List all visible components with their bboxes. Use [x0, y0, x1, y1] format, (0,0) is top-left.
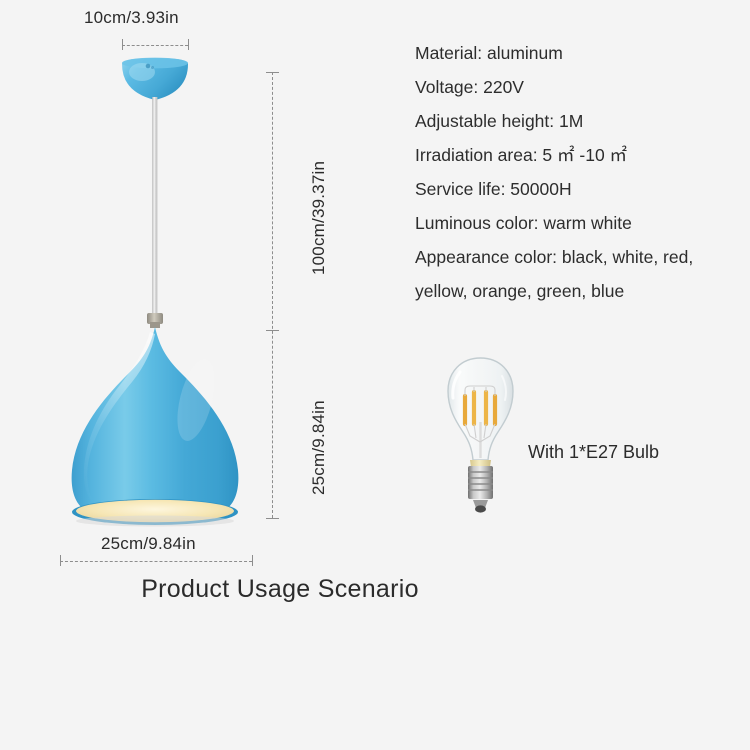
dimension-cap-top — [266, 72, 279, 73]
dimension-line-vertical — [272, 72, 273, 518]
spec-item-material: Material: aluminum — [415, 36, 745, 70]
bulb-caption: With 1*E27 Bulb — [528, 442, 659, 463]
spec-item-irradiation-area: Irradiation area: 5 ㎡ -10 ㎡ — [415, 138, 745, 172]
spec-item-luminous-color: Luminous color: warm white — [415, 206, 745, 240]
product-spec-image: 10cm/3.93in 100cm/39.37in 25cm/9.84in 25… — [0, 0, 750, 750]
dimension-line-canopy-width — [122, 45, 188, 46]
dimension-line-shade-width — [60, 561, 252, 562]
dimension-cap-middle — [266, 330, 279, 331]
scenario-title: Product Usage Scenario — [0, 575, 560, 604]
spec-item-service-life: Service life: 50000H — [415, 172, 745, 206]
specification-list: Material: aluminum Voltage: 220V Adjusta… — [415, 36, 745, 308]
spec-item-voltage: Voltage: 220V — [415, 70, 745, 104]
hanging-cord — [152, 97, 157, 317]
spec-item-adjustable-height: Adjustable height: 1M — [415, 104, 745, 138]
bulb-illustration — [418, 350, 543, 530]
dimension-label-shade-width: 25cm/9.84in — [101, 534, 196, 554]
dimension-cap-width-right — [252, 555, 253, 566]
ceiling-canopy — [122, 58, 188, 100]
bulb-svg — [418, 350, 543, 530]
dimension-cap-bottom — [266, 518, 279, 519]
bulb-e27-base — [468, 460, 493, 513]
lamp-svg — [0, 0, 330, 560]
dimension-label-drop-height: 100cm/39.37in — [309, 161, 329, 275]
lamp-shade — [72, 327, 239, 527]
spec-item-appearance-color-continued: yellow, orange, green, blue — [415, 274, 745, 308]
dimension-cap-canopy-right — [188, 39, 189, 50]
shade-connector — [147, 313, 163, 328]
dimension-cap-canopy-left — [122, 39, 123, 50]
dimension-cap-width-left — [60, 555, 61, 566]
pendant-lamp-illustration — [0, 0, 330, 560]
dimension-label-shade-height: 25cm/9.84in — [309, 400, 329, 495]
dimension-label-canopy-width: 10cm/3.93in — [84, 8, 179, 28]
spec-item-appearance-color: Appearance color: black, white, red, — [415, 240, 745, 274]
